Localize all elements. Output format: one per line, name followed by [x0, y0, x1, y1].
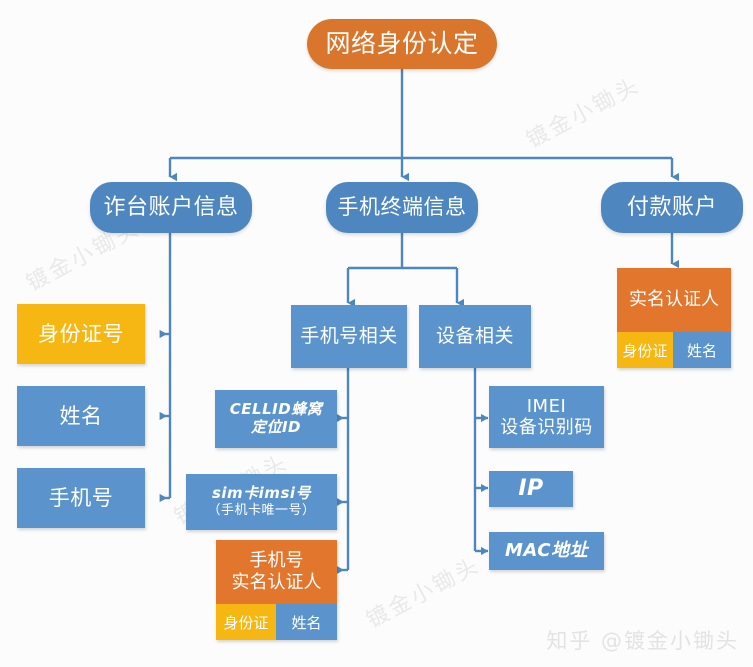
payment-verified-leg-id-card[interactable]: 身份证 [617, 332, 673, 368]
phone-item-cellid-line1: CELLID蜂窝 [230, 401, 322, 419]
phone-verified-person-line2: 实名认证人 [232, 572, 322, 594]
branch-node-account-info[interactable]: 诈台账户信息 [90, 182, 252, 233]
group-node-device-related[interactable]: 设备相关 [419, 305, 531, 368]
device-item-ip[interactable]: IP [489, 471, 573, 507]
branch-node-payment-account[interactable]: 付款账户 [601, 182, 743, 233]
device-item-mac-address[interactable]: MAC地址 [489, 532, 604, 570]
phone-verified-person-group[interactable]: 手机号 实名认证人 身份证 姓名 [216, 540, 337, 640]
device-item-imei-line2: 设备识别码 [500, 417, 593, 438]
account-item-id-number[interactable]: 身份证号 [17, 304, 145, 364]
phone-item-sim-imsi[interactable]: sim卡imsi号 （手机卡唯一号） [186, 474, 337, 530]
branch-node-mobile-terminal-info[interactable]: 手机终端信息 [326, 182, 478, 233]
phone-item-sim-imsi-line1: sim卡imsi号 [212, 485, 311, 503]
device-item-imei-line1: IMEI [527, 396, 567, 417]
phone-verified-person-line1: 手机号 [250, 550, 304, 572]
root-node-network-identity[interactable]: 网络身份认定 [307, 19, 497, 69]
phone-verified-leg-id-card[interactable]: 身份证 [216, 604, 276, 640]
group-node-phone-related[interactable]: 手机号相关 [291, 305, 407, 368]
phone-verified-person-title: 手机号 实名认证人 [216, 540, 337, 604]
account-item-phone-number[interactable]: 手机号 [17, 468, 145, 528]
diagram-canvas: 镀金小锄头 镀金小锄头 镀金小锄头 镀金小锄头 [0, 0, 753, 667]
payment-verified-person-line1: 实名认证人 [629, 289, 719, 311]
device-item-imei[interactable]: IMEI 设备识别码 [489, 386, 604, 448]
account-item-name[interactable]: 姓名 [17, 386, 145, 446]
payment-verified-leg-name[interactable]: 姓名 [673, 332, 731, 368]
footer-attribution: 知乎 @镀金小锄头 [546, 625, 739, 655]
payment-verified-person-title: 实名认证人 [617, 268, 731, 332]
phone-item-sim-imsi-line2: （手机卡唯一号） [207, 503, 315, 518]
phone-verified-leg-name[interactable]: 姓名 [276, 604, 337, 640]
phone-item-cellid[interactable]: CELLID蜂窝 定位ID [215, 390, 337, 448]
phone-item-cellid-line2: 定位ID [251, 419, 301, 437]
payment-verified-person-group[interactable]: 实名认证人 身份证 姓名 [617, 268, 731, 368]
